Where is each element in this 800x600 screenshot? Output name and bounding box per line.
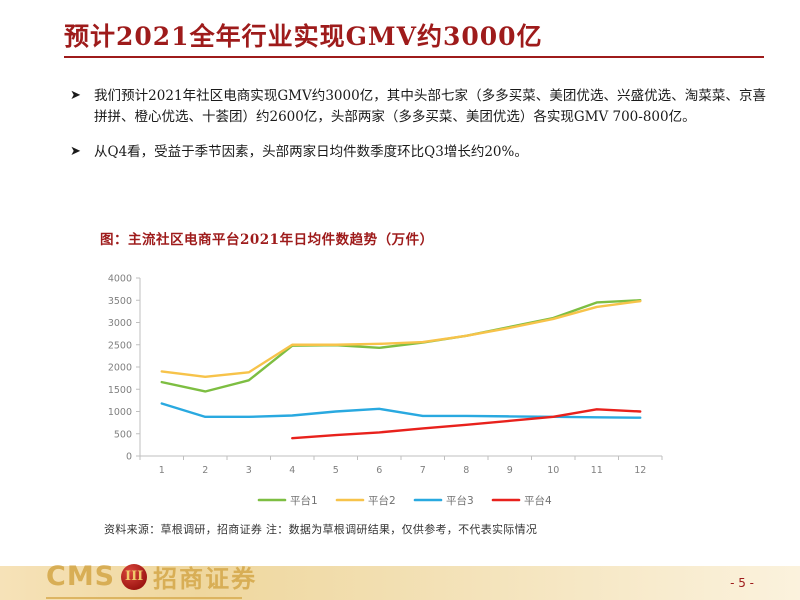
y-axis-tick-label: 2000 — [108, 363, 132, 374]
x-axis-tick-label: 4 — [289, 465, 295, 476]
line-chart: 0500100015002000250030003500400012345678… — [92, 268, 672, 518]
legend-label-平台4: 平台4 — [524, 494, 552, 507]
x-axis-tick-label: 9 — [507, 465, 513, 476]
y-axis-tick-label: 3500 — [108, 296, 132, 307]
x-axis-tick-label: 12 — [634, 465, 646, 476]
source-note: 资料来源：草根调研，招商证券 注：数据为草根调研结果，仅供参考，不代表实际情况 — [104, 521, 537, 537]
page-number: - 5 - — [730, 576, 754, 590]
series-line-平台4 — [292, 409, 640, 438]
y-axis-tick-label: 2500 — [108, 340, 132, 351]
x-axis-tick-label: 5 — [333, 465, 339, 476]
legend-label-平台3: 平台3 — [446, 494, 474, 507]
x-axis-tick-label: 10 — [547, 465, 559, 476]
logo-chinese-text: 招商证券 — [153, 559, 257, 594]
x-axis-tick-label: 11 — [591, 465, 603, 476]
title-block: 预计2021全年行业实现GMV约3000亿 — [64, 22, 764, 58]
series-line-平台3 — [162, 403, 641, 417]
title-divider — [64, 56, 764, 58]
bullet-item: ➤ 我们预计2021年社区电商实现GMV约3000亿，其中头部七家（多多买菜、美… — [66, 86, 766, 128]
x-axis-tick-label: 6 — [376, 465, 382, 476]
arrow-bullet-icon: ➤ — [66, 142, 94, 162]
slide: 预计2021全年行业实现GMV约3000亿 ➤ 我们预计2021年社区电商实现G… — [0, 0, 800, 600]
bullet-list: ➤ 我们预计2021年社区电商实现GMV约3000亿，其中头部七家（多多买菜、美… — [66, 86, 766, 177]
x-axis-tick-label: 2 — [202, 465, 208, 476]
legend-label-平台1: 平台1 — [290, 494, 318, 507]
chart-title: 图：主流社区电商平台2021年日均件数趋势（万件） — [100, 228, 434, 248]
logo-underline — [46, 597, 242, 599]
bullet-text: 从Q4看，受益于季节因素，头部两家日均件数季度环比Q3增长约20%。 — [94, 142, 766, 163]
bullet-text: 我们预计2021年社区电商实现GMV约3000亿，其中头部七家（多多买菜、美团优… — [94, 86, 766, 128]
y-axis-tick-label: 0 — [126, 452, 132, 463]
y-axis-tick-label: 1000 — [108, 407, 132, 418]
y-axis-tick-label: 1500 — [108, 385, 132, 396]
arrow-bullet-icon: ➤ — [66, 86, 94, 106]
y-axis-tick-label: 3000 — [108, 318, 132, 329]
logo-latin-text: CMS — [46, 562, 115, 592]
y-axis-tick-label: 500 — [114, 429, 132, 440]
x-axis-tick-label: 3 — [246, 465, 252, 476]
x-axis-tick-label: 1 — [159, 465, 165, 476]
chart-svg: 0500100015002000250030003500400012345678… — [92, 268, 672, 518]
bullet-item: ➤ 从Q4看，受益于季节因素，头部两家日均件数季度环比Q3增长约20%。 — [66, 142, 766, 163]
y-axis-tick-label: 4000 — [108, 274, 132, 285]
company-logo: CMS III 招商证券 — [46, 559, 257, 594]
x-axis-tick-label: 7 — [420, 465, 426, 476]
page-title: 预计2021全年行业实现GMV约3000亿 — [64, 22, 764, 52]
legend-label-平台2: 平台2 — [368, 494, 396, 507]
x-axis-tick-label: 8 — [463, 465, 469, 476]
logo-seal-icon: III — [121, 564, 147, 590]
